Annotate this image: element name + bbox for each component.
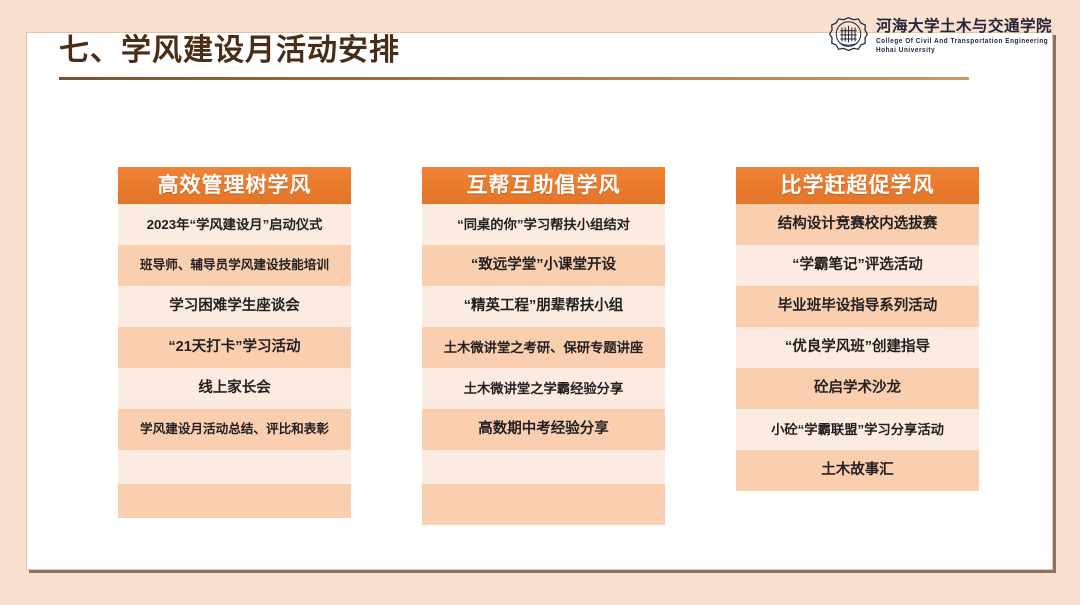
activity-column-1: 高效管理树学风 2023年“学风建设月”启动仪式 班导师、辅导员学风建设技能培训…: [118, 167, 351, 525]
slide-root: 七、学风建设月活动安排 河海大学土木与交通学院 College Of Civil…: [0, 0, 1080, 605]
list-item-empty-trailing: [118, 484, 351, 518]
list-item: 土木微讲堂之学霸经验分享: [422, 368, 665, 409]
list-item: 2023年“学风建设月”启动仪式: [118, 204, 351, 245]
list-item-empty-trailing: [422, 484, 665, 525]
hohai-university-seal-icon: [828, 16, 869, 57]
list-item: 学风建设月活动总结、评比和表彰: [118, 409, 351, 450]
list-item: 毕业班毕设指导系列活动: [736, 286, 979, 327]
activity-columns: 高效管理树学风 2023年“学风建设月”启动仪式 班导师、辅导员学风建设技能培训…: [118, 167, 988, 525]
page-title: 七、学风建设月活动安排: [59, 34, 400, 67]
list-item: “优良学风班”创建指导: [736, 327, 979, 368]
university-logo: 河海大学土木与交通学院 College Of Civil And Transpo…: [828, 16, 1052, 57]
university-logo-text: 河海大学土木与交通学院 College Of Civil And Transpo…: [876, 18, 1052, 55]
list-item: “精英工程”朋辈帮扶小组: [422, 286, 665, 327]
list-item: 土木故事汇: [736, 450, 979, 491]
list-item: “21天打卡”学习活动: [118, 327, 351, 368]
university-name-cn: 河海大学土木与交通学院: [876, 18, 1052, 35]
column-header-2: 互帮互助倡学风: [422, 167, 665, 204]
list-item: 高数期中考经验分享: [422, 409, 665, 450]
list-item: “学霸笔记”评选活动: [736, 245, 979, 286]
list-item-empty: [422, 450, 665, 484]
list-item: “同桌的你”学习帮扶小组结对: [422, 204, 665, 245]
list-item-empty: [118, 450, 351, 484]
list-item: 线上家长会: [118, 368, 351, 409]
list-item: 班导师、辅导员学风建设技能培训: [118, 245, 351, 286]
list-item: 学习困难学生座谈会: [118, 286, 351, 327]
university-name-en-line2: Hohai University: [876, 45, 1052, 56]
activity-column-2: 互帮互助倡学风 “同桌的你”学习帮扶小组结对 “致远学堂”小课堂开设 “精英工程…: [422, 167, 665, 525]
list-item: 砼启学术沙龙: [736, 368, 979, 409]
list-item: 小砼“学霸联盟”学习分享活动: [736, 409, 979, 450]
activity-column-3: 比学赶超促学风 结构设计竞赛校内选拔赛 “学霸笔记”评选活动 毕业班毕设指导系列…: [736, 167, 979, 525]
column-header-1: 高效管理树学风: [118, 167, 351, 204]
title-underline-divider: [59, 77, 969, 80]
column-header-3: 比学赶超促学风: [736, 167, 979, 204]
list-item: “致远学堂”小课堂开设: [422, 245, 665, 286]
list-item: 结构设计竞赛校内选拔赛: [736, 204, 979, 245]
list-item: 土木微讲堂之考研、保研专题讲座: [422, 327, 665, 368]
